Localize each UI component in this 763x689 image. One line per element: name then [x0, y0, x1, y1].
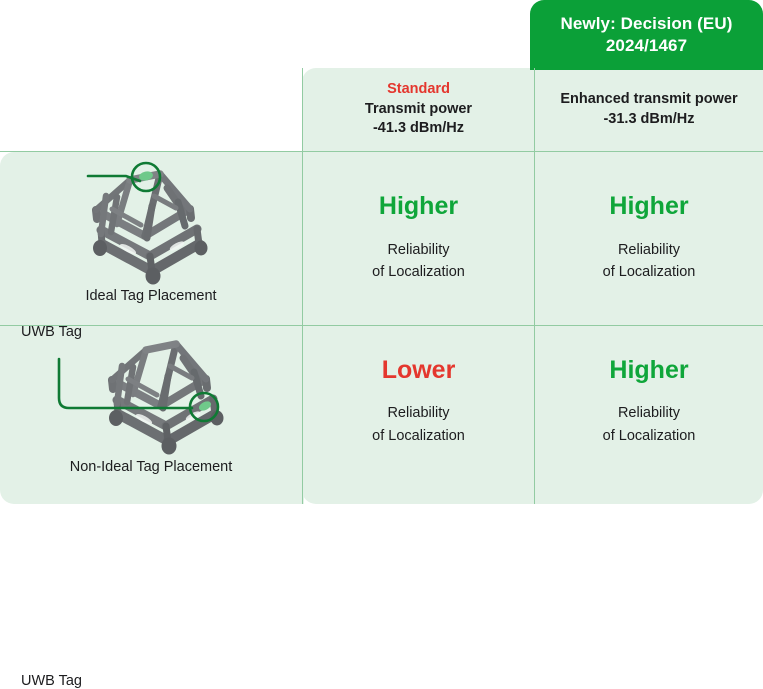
- sub-line1: Reliability: [618, 405, 680, 421]
- column-header-standard-line2: -41.3 dBm/Hz: [373, 119, 464, 139]
- cart-wheel: [93, 240, 107, 256]
- regulation-badge-line2: 2024/1467: [606, 36, 687, 55]
- column-header-standard-kicker: Standard: [387, 80, 450, 100]
- cart-wheel: [162, 438, 177, 455]
- cell-ideal-enhanced-sub: Reliability of Localization: [603, 239, 696, 284]
- cell-ideal-enhanced: Higher Reliability of Localization: [535, 152, 763, 325]
- column-header-enhanced-line1: Enhanced transmit power: [560, 90, 737, 110]
- sub-line2: of Localization: [372, 428, 465, 444]
- cart-wheel: [146, 268, 161, 285]
- cell-non-ideal-enhanced-sub: Reliability of Localization: [603, 402, 696, 447]
- sub-line2: of Localization: [372, 264, 465, 280]
- column-header-enhanced: Enhanced transmit power -31.3 dBm/Hz: [535, 68, 763, 151]
- non-ideal-placement-illustration: UWB Tag: [0, 326, 302, 504]
- comparison-table: Newly: Decision (EU) 2024/1467 Standard …: [0, 0, 763, 504]
- regulation-badge: Newly: Decision (EU) 2024/1467: [530, 0, 763, 70]
- cell-ideal-standard-sub: Reliability of Localization: [372, 239, 465, 284]
- cell-non-ideal-enhanced: Higher Reliability of Localization: [535, 326, 763, 478]
- sub-line2: of Localization: [603, 428, 696, 444]
- regulation-badge-line1: Newly: Decision (EU): [560, 14, 732, 33]
- cell-non-ideal-standard: Lower Reliability of Localization: [303, 326, 534, 478]
- column-header-standard-line1: Transmit power: [365, 100, 472, 120]
- ideal-placement-caption: Ideal Tag Placement: [0, 288, 302, 304]
- sub-line1: Reliability: [618, 242, 680, 258]
- column-header-standard: Standard Transmit power -41.3 dBm/Hz: [303, 68, 534, 151]
- cart-wheel: [195, 241, 208, 256]
- sub-line1: Reliability: [387, 242, 449, 258]
- cell-non-ideal-enhanced-verdict: Higher: [609, 357, 688, 385]
- cell-ideal-standard: Higher Reliability of Localization: [303, 152, 534, 325]
- sub-line1: Reliability: [387, 405, 449, 421]
- cell-ideal-enhanced-verdict: Higher: [609, 193, 688, 221]
- regulation-badge-label: Newly: Decision (EU) 2024/1467: [560, 13, 732, 57]
- uwb-tag-callout-label: UWB Tag: [21, 673, 82, 689]
- cart-wheel: [109, 410, 123, 426]
- sub-line2: of Localization: [603, 264, 696, 280]
- non-ideal-placement-caption: Non-Ideal Tag Placement: [0, 459, 302, 475]
- cell-non-ideal-standard-sub: Reliability of Localization: [372, 402, 465, 447]
- cell-ideal-standard-verdict: Higher: [379, 193, 458, 221]
- a-frame-cart-icon: [0, 326, 302, 504]
- cell-non-ideal-standard-verdict: Lower: [382, 357, 456, 385]
- column-header-enhanced-line2: -31.3 dBm/Hz: [603, 110, 694, 130]
